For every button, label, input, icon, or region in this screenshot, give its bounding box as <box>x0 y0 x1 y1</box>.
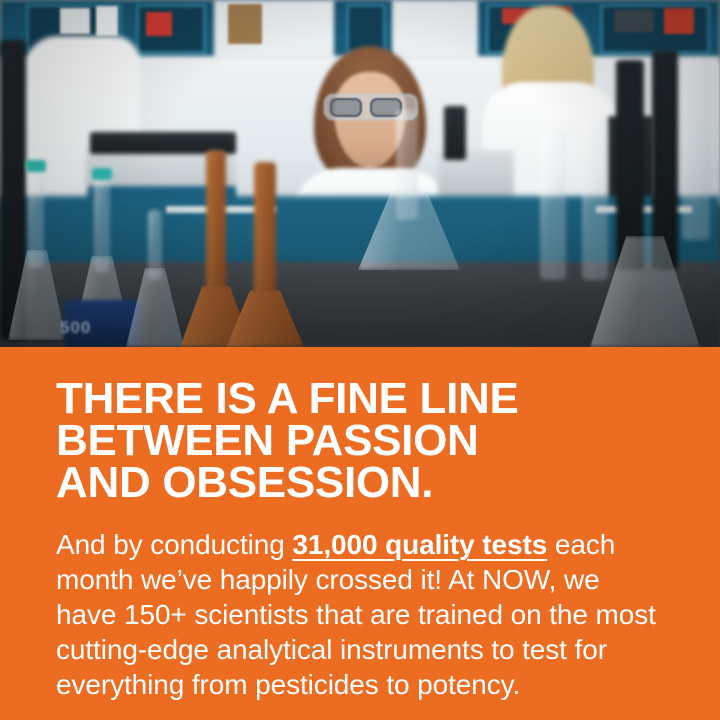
page-title: THERE IS A FINE LINE BETWEEN PASSION AND… <box>56 378 664 504</box>
promo-graphic: 500 THERE IS A FINE LINE BETWEEN PASSION… <box>0 0 720 720</box>
body-copy: And by conducting 31,000 quality tests e… <box>56 527 664 702</box>
orange-message-panel: THERE IS A FINE LINE BETWEEN PASSION AND… <box>0 347 720 720</box>
laboratory-scientists-photo: 500 <box>0 0 720 347</box>
photo-vignette <box>0 0 720 347</box>
quality-tests-highlight: 31,000 quality tests <box>292 529 547 560</box>
body-copy-lead: And by conducting <box>56 529 292 560</box>
